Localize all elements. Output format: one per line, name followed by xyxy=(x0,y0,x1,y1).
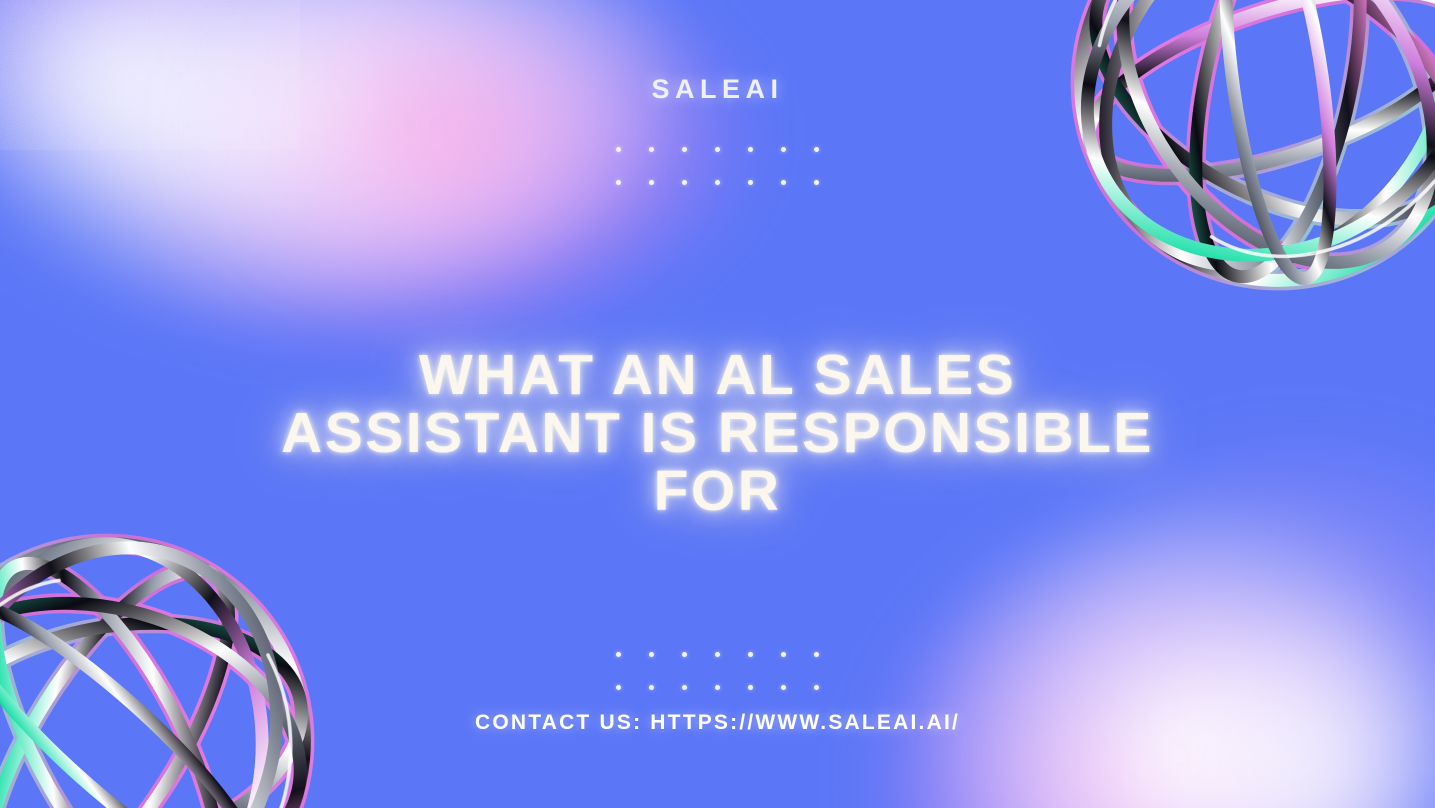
dot xyxy=(748,652,753,657)
dot xyxy=(616,652,621,657)
brand-logo: SALEAI xyxy=(651,74,783,105)
page-title: WHAT AN AL SALES ASSISTANT IS RESPONSIBL… xyxy=(218,346,1218,520)
dot xyxy=(814,147,819,152)
dot xyxy=(616,685,621,690)
dot xyxy=(682,685,687,690)
slide-content: SALEAI WHAT AN AL SALES ASSISTANT IS RES… xyxy=(0,0,1435,808)
headline-line-1: WHAT AN AL SALES xyxy=(218,346,1218,404)
dot xyxy=(682,652,687,657)
dot xyxy=(682,147,687,152)
dot xyxy=(649,685,654,690)
dot xyxy=(715,180,720,185)
dot xyxy=(715,685,720,690)
dot xyxy=(649,652,654,657)
headline-line-3: FOR xyxy=(218,462,1218,520)
dot xyxy=(814,180,819,185)
dot xyxy=(781,685,786,690)
dot xyxy=(748,685,753,690)
dot xyxy=(781,180,786,185)
dot xyxy=(748,180,753,185)
dot xyxy=(715,652,720,657)
dot xyxy=(814,652,819,657)
dot-grid-top xyxy=(602,133,833,199)
dot xyxy=(814,685,819,690)
dot xyxy=(682,180,687,185)
dot xyxy=(715,147,720,152)
presentation-slide: SALEAI WHAT AN AL SALES ASSISTANT IS RES… xyxy=(0,0,1435,808)
dot xyxy=(748,147,753,152)
dot xyxy=(616,147,621,152)
headline-line-2: ASSISTANT IS RESPONSIBLE xyxy=(218,404,1218,462)
dot xyxy=(781,652,786,657)
contact-url[interactable]: CONTACT US: HTTPS://WWW.SALEAI.AI/ xyxy=(475,711,960,735)
dot xyxy=(616,180,621,185)
dot xyxy=(649,147,654,152)
dot-grid-bottom xyxy=(602,638,833,704)
dot xyxy=(781,147,786,152)
dot xyxy=(649,180,654,185)
